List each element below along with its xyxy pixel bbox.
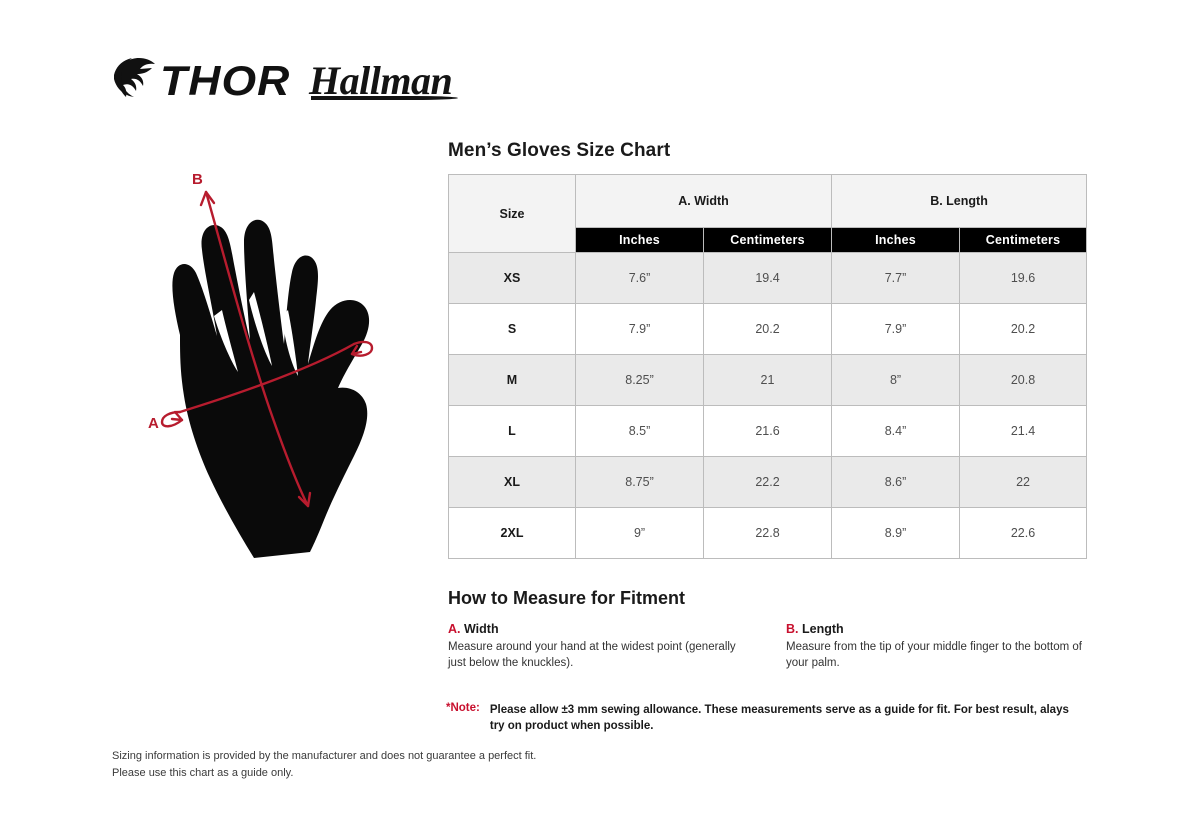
table-row: M 8.25” 21 8” 20.8	[449, 355, 1087, 406]
cell-width-centimeters: 21	[704, 355, 832, 406]
measure-length-block: B. Length Measure from the tip of your m…	[786, 622, 1088, 672]
cell-length-centimeters: 22	[960, 457, 1087, 508]
glove-silhouette	[172, 220, 369, 558]
table-row: XS 7.6” 19.4 7.7” 19.6	[449, 253, 1087, 304]
footer-disclaimer: Sizing information is provided by the ma…	[112, 748, 536, 782]
measure-width-body: Measure around your hand at the widest p…	[448, 639, 750, 672]
cell-length-inches: 7.9”	[832, 304, 960, 355]
thor-logo: THOR	[112, 55, 283, 108]
helmet-icon	[112, 55, 156, 108]
brand-logo-bar: THOR Hallman	[112, 52, 452, 110]
footer-line-1: Sizing information is provided by the ma…	[112, 748, 536, 765]
cell-length-inches: 7.7”	[832, 253, 960, 304]
cell-size: S	[449, 304, 576, 355]
how-to-measure-section: How to Measure for Fitment A. Width Meas…	[448, 588, 1088, 672]
cell-width-inches: 8.5”	[576, 406, 704, 457]
measure-width-title: A. Width	[448, 622, 750, 636]
cell-length-centimeters: 22.6	[960, 508, 1087, 559]
column-header-length-inches: Inches	[832, 228, 960, 253]
cell-length-inches: 8.9”	[832, 508, 960, 559]
thor-wordmark: THOR	[160, 60, 290, 102]
table-row: L 8.5” 21.6 8.4” 21.4	[449, 406, 1087, 457]
cell-length-centimeters: 21.4	[960, 406, 1087, 457]
cell-length-inches: 8”	[832, 355, 960, 406]
column-header-length-centimeters: Centimeters	[960, 228, 1087, 253]
glove-label-b: B	[192, 171, 203, 188]
measure-length-marker: B.	[786, 622, 799, 636]
column-header-size: Size	[449, 175, 576, 253]
cell-size: 2XL	[449, 508, 576, 559]
column-header-width-inches: Inches	[576, 228, 704, 253]
cell-width-centimeters: 22.2	[704, 457, 832, 508]
cell-size: XS	[449, 253, 576, 304]
cell-size: M	[449, 355, 576, 406]
glove-measurement-diagram: B A	[118, 160, 428, 570]
table-row: S 7.9” 20.2 7.9” 20.2	[449, 304, 1087, 355]
page-title: Men’s Gloves Size Chart	[448, 140, 670, 162]
cell-width-inches: 8.75”	[576, 457, 704, 508]
cell-length-centimeters: 19.6	[960, 253, 1087, 304]
column-header-width-centimeters: Centimeters	[704, 228, 832, 253]
cell-length-centimeters: 20.2	[960, 304, 1087, 355]
measure-width-marker: A.	[448, 622, 461, 636]
glove-label-a: A	[148, 415, 159, 432]
cell-width-centimeters: 19.4	[704, 253, 832, 304]
hallman-wordmark: Hallman	[309, 61, 452, 101]
measure-length-title: B. Length	[786, 622, 1088, 636]
note-text: Please allow ±3 mm sewing allowance. The…	[490, 702, 1086, 735]
measure-length-name: Length	[802, 622, 844, 636]
cell-width-centimeters: 22.8	[704, 508, 832, 559]
measure-length-body: Measure from the tip of your middle fing…	[786, 639, 1088, 672]
cell-width-centimeters: 20.2	[704, 304, 832, 355]
size-chart-table: Size A. Width B. Length Inches Centimete…	[448, 174, 1087, 559]
cell-width-inches: 8.25”	[576, 355, 704, 406]
cell-width-inches: 7.9”	[576, 304, 704, 355]
measure-heading: How to Measure for Fitment	[448, 588, 1088, 609]
table-row: XL 8.75” 22.2 8.6” 22	[449, 457, 1087, 508]
cell-width-inches: 7.6”	[576, 253, 704, 304]
cell-length-inches: 8.6”	[832, 457, 960, 508]
cell-size: XL	[449, 457, 576, 508]
note-row: *Note: Please allow ±3 mm sewing allowan…	[446, 702, 1086, 735]
measure-width-name: Width	[464, 622, 499, 636]
column-header-width-group: A. Width	[576, 175, 832, 228]
footer-line-2: Please use this chart as a guide only.	[112, 765, 536, 782]
cell-length-centimeters: 20.8	[960, 355, 1087, 406]
table-row: 2XL 9” 22.8 8.9” 22.6	[449, 508, 1087, 559]
column-header-length-group: B. Length	[832, 175, 1087, 228]
measure-width-block: A. Width Measure around your hand at the…	[448, 622, 750, 672]
cell-width-centimeters: 21.6	[704, 406, 832, 457]
cell-length-inches: 8.4”	[832, 406, 960, 457]
table-header-row-groups: Size A. Width B. Length	[449, 175, 1087, 228]
cell-size: L	[449, 406, 576, 457]
cell-width-inches: 9”	[576, 508, 704, 559]
note-label: *Note:	[446, 702, 480, 735]
